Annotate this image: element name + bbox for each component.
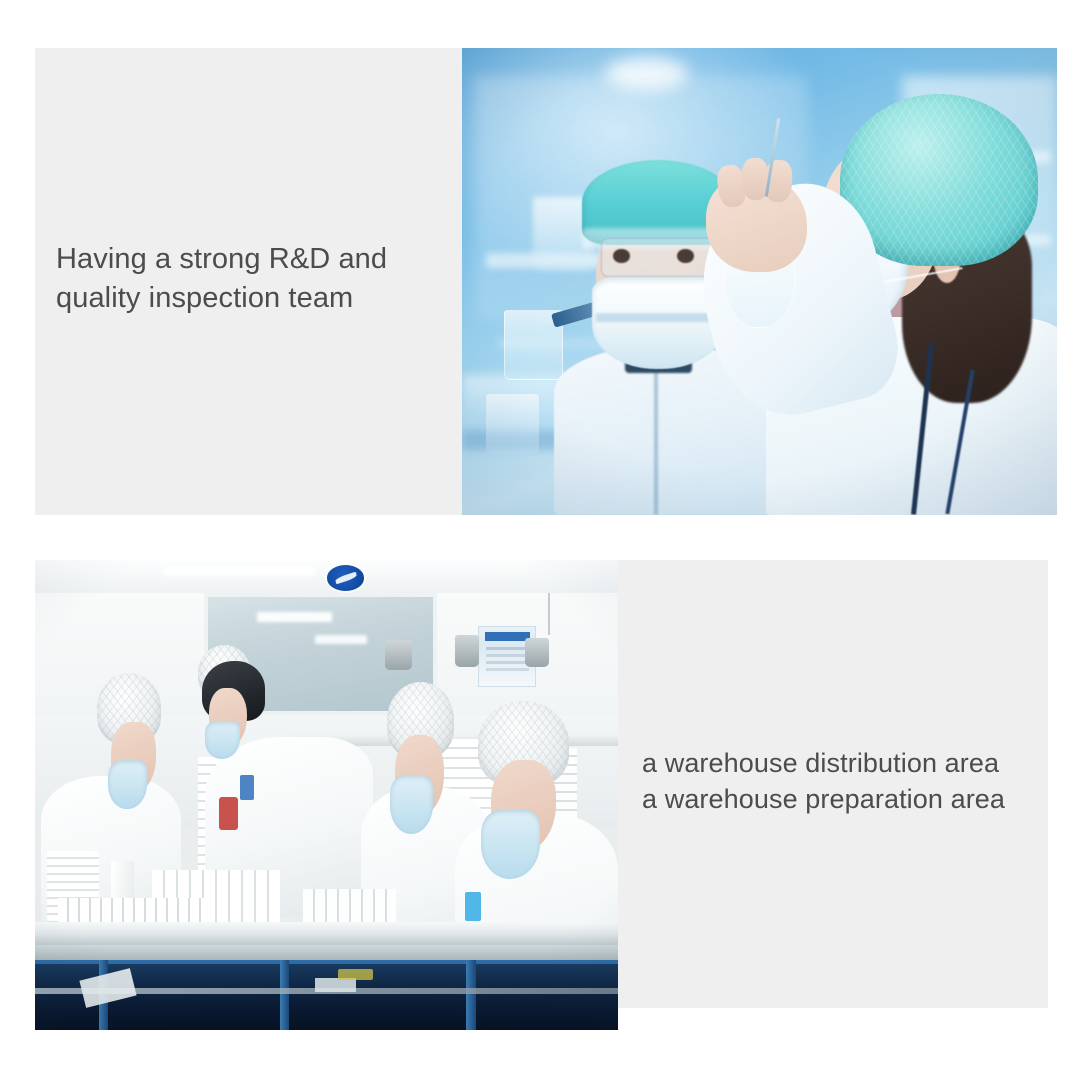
caption-line-2: a warehouse preparation area: [642, 781, 1062, 817]
caption-line-1: a warehouse distribution area: [642, 745, 1062, 781]
caption-line-1: Having a strong R&D and: [56, 240, 456, 279]
caption-warehouse-areas: a warehouse distribution area a warehous…: [642, 745, 1062, 817]
photo-vignette-top: [462, 48, 1057, 515]
photo-warehouse-packing: [35, 560, 618, 1030]
caption-line-2: quality inspection team: [56, 279, 456, 318]
photo-vignette-bottom: [35, 560, 618, 1030]
caption-rd-quality-inspection: Having a strong R&D and quality inspecti…: [56, 240, 456, 318]
poster-page: Having a strong R&D and quality inspecti…: [0, 0, 1080, 1080]
photo-lab-quality-inspection: [462, 48, 1057, 515]
section-warehouse-areas: a warehouse distribution area a warehous…: [35, 560, 1048, 1030]
section-rd-quality-inspection: Having a strong R&D and quality inspecti…: [35, 48, 1057, 515]
